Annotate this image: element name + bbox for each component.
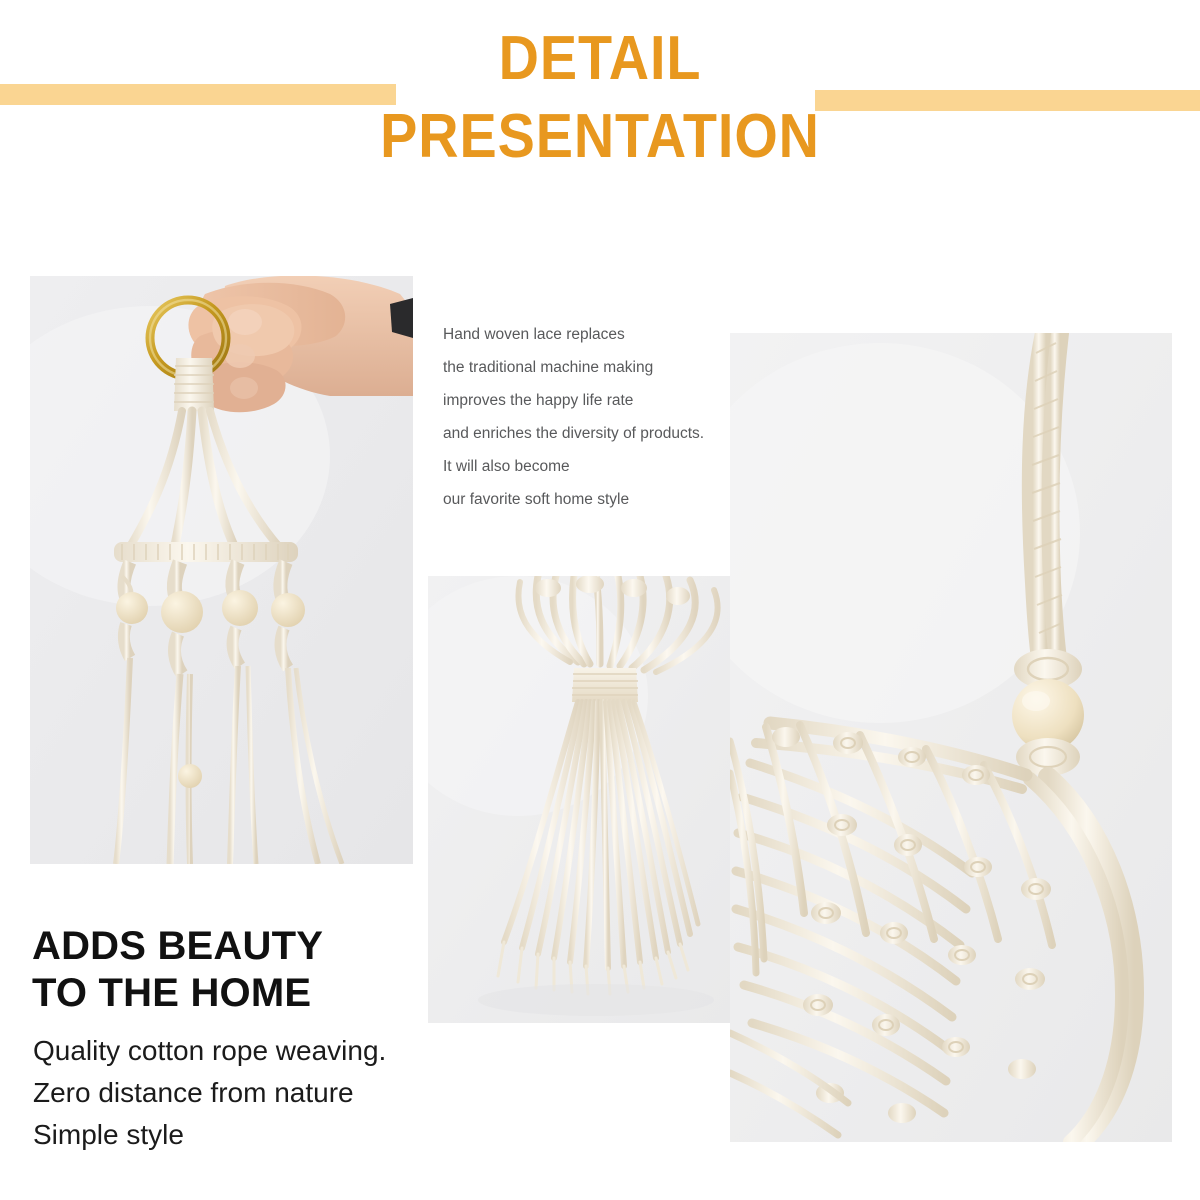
description-line-1: Hand woven lace replaces: [443, 318, 743, 351]
description-line-6: our favorite soft home style: [443, 483, 743, 516]
photo-hand-holding-ring-svg: [30, 276, 413, 864]
promo-subcopy-line-2: Zero distance from nature: [33, 1072, 386, 1114]
promo-subcopy: Quality cotton rope weaving. Zero distan…: [33, 1030, 386, 1156]
photo-macrame-net-detail: [730, 333, 1172, 1142]
detail-presentation-page: DETAIL PRESENTATION: [0, 0, 1200, 1200]
promo-headline-line-2: TO THE HOME: [32, 970, 323, 1017]
description-line-5: It will also become: [443, 450, 743, 483]
photo-rope-tassel-svg: [428, 576, 733, 1023]
page-title: DETAIL PRESENTATION: [0, 28, 1200, 168]
description-line-4: and enriches the diversity of products.: [443, 417, 743, 450]
tassel-binding: [572, 668, 638, 702]
product-description: Hand woven lace replaces the traditional…: [443, 318, 743, 516]
knot-bar: [114, 542, 298, 562]
rope-wrapped-neck: [174, 358, 214, 411]
page-title-line-1: DETAIL: [60, 28, 1140, 90]
promo-headline-line-1: ADDS BEAUTY: [32, 923, 323, 970]
hanging-twisted-rope: [1032, 333, 1062, 659]
promo-subcopy-line-1: Quality cotton rope weaving.: [33, 1030, 386, 1072]
promo-subcopy-line-3: Simple style: [33, 1114, 386, 1156]
page-title-line-2: PRESENTATION: [60, 106, 1140, 168]
photo-rope-tassel: [428, 576, 733, 1023]
promo-headline: ADDS BEAUTY TO THE HOME: [32, 923, 323, 1017]
description-line-2: the traditional machine making: [443, 351, 743, 384]
photo-hand-holding-ring: [30, 276, 413, 864]
description-line-3: improves the happy life rate: [443, 384, 743, 417]
photo-macrame-net-detail-svg: [730, 333, 1172, 1142]
